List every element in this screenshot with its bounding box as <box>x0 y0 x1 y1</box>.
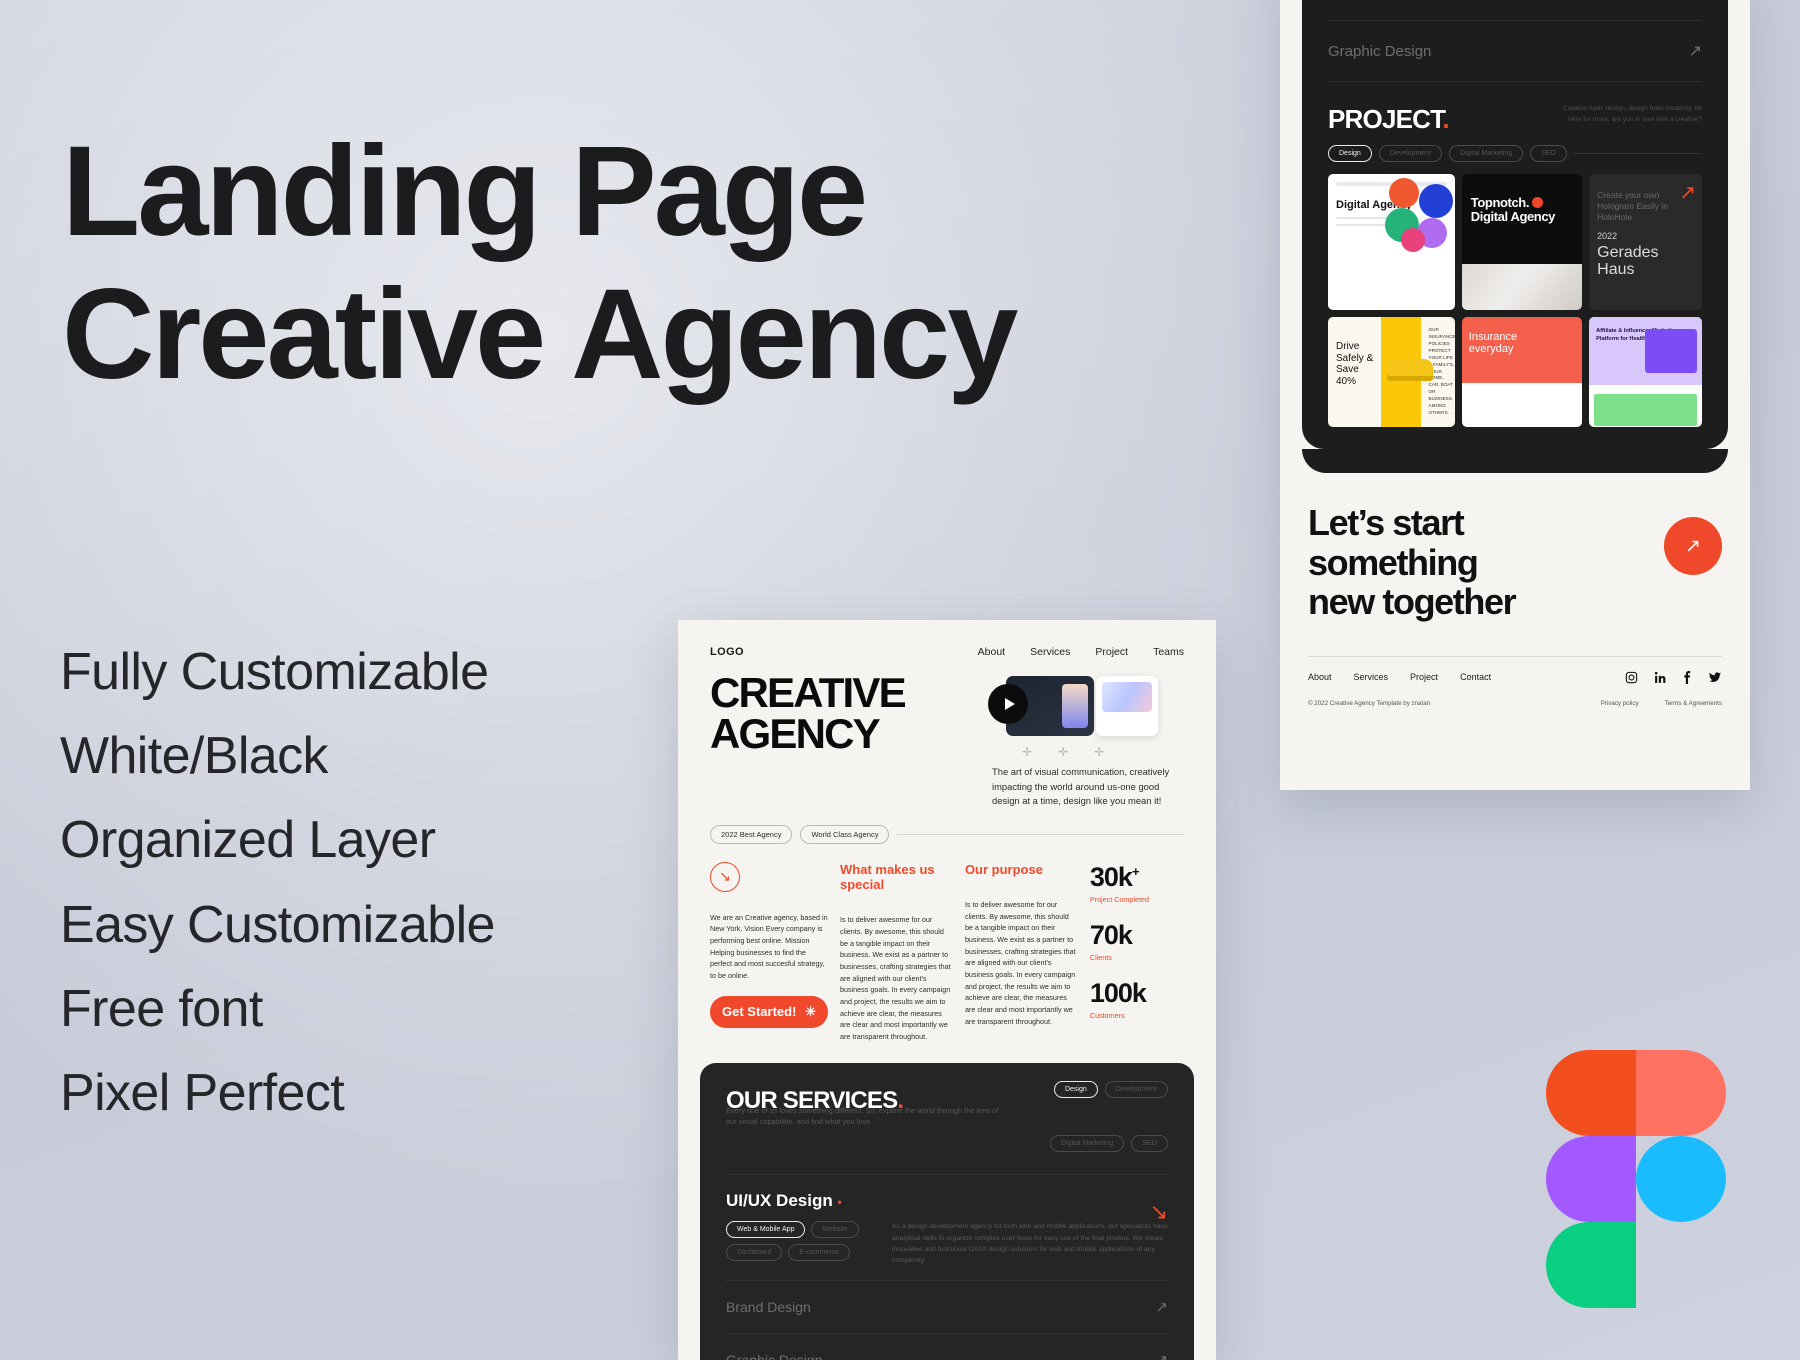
project-header: PROJECT. Creation fuels design, design f… <box>1328 82 1702 135</box>
thumb-photo <box>1462 264 1582 310</box>
filter-development[interactable]: Development <box>1379 145 1442 162</box>
service-row-label: Graphic Design <box>726 1352 823 1360</box>
stat-label: Customers <box>1090 1011 1184 1020</box>
right-landing-page-mockup: Brand Design ↗ Graphic Design ↗ PROJECT.… <box>1280 0 1750 790</box>
footer-social-icons <box>1625 671 1722 684</box>
service-row-graphic-design[interactable]: Graphic Design ↗ <box>1328 21 1702 82</box>
footer-bottom-row: © 2022 Creative Agency Template by znata… <box>1308 700 1722 707</box>
thumb-screenshot <box>1645 329 1697 373</box>
arrow-up-right-icon: ↗ <box>1685 535 1701 558</box>
center-landing-page-mockup: LOGO About Services Project Teams CREATI… <box>678 620 1216 1360</box>
figma-shape-orange <box>1546 1050 1636 1136</box>
device-bezel-bottom <box>1302 449 1728 473</box>
stat-number: 100k <box>1090 978 1184 1009</box>
footer-links: About Services Project Contact <box>1308 672 1491 682</box>
facebook-icon[interactable] <box>1683 671 1692 684</box>
service-active-title: UI/UX Design • <box>726 1191 1168 1211</box>
footer-link-project[interactable]: Project <box>1410 672 1438 682</box>
hero-badges: 2022 Best Agency World Class Agency <box>678 809 1216 844</box>
sparkle-icon: ✳ <box>805 1005 816 1019</box>
feature-item: Easy Customizable <box>60 883 495 967</box>
project-card-title: Drive Safely & Save 40% <box>1336 341 1373 387</box>
purpose-title: Our purpose <box>965 862 1078 877</box>
privacy-policy-link[interactable]: Privacy policy <box>1601 700 1639 707</box>
poster-headline: Landing Page Creative Agency <box>62 120 1102 407</box>
project-card-digital-agency[interactable]: Digital Agency <box>1328 174 1455 310</box>
purpose-body: Is to deliver awesome for our clients. B… <box>965 899 1078 1027</box>
terms-link[interactable]: Terms & Agreements <box>1665 700 1722 707</box>
filter-design[interactable]: Design <box>1328 145 1372 162</box>
twitter-icon[interactable] <box>1708 671 1722 684</box>
stat-item: 100k Customers <box>1090 978 1184 1020</box>
thumb-image <box>1594 394 1697 426</box>
project-card-holohole[interactable]: ↗ Create your own Hologram Easily in Hol… <box>1589 174 1702 310</box>
project-card-title: Topnotch. Digital Agency <box>1462 174 1582 224</box>
service-row-graphic-design[interactable]: Graphic Design ↗ <box>726 1333 1168 1360</box>
figma-logo <box>1546 1050 1726 1308</box>
stat-number: 30k+ <box>1090 862 1184 893</box>
linkedin-icon[interactable] <box>1654 671 1667 684</box>
footer: About Services Project Contact © 2022 Cr… <box>1308 656 1722 707</box>
project-dark-section: Brand Design ↗ Graphic Design ↗ PROJECT.… <box>1302 0 1728 449</box>
cta-heading: Let’s start something new together <box>1308 503 1515 622</box>
stat-item: 70k Clients <box>1090 920 1184 962</box>
nav-item-teams[interactable]: Teams <box>1153 646 1184 658</box>
get-started-button[interactable]: Get Started! ✳ <box>710 996 828 1028</box>
hero-paragraph: The art of visual communication, creativ… <box>992 765 1184 809</box>
service-description: As a design development agency for both … <box>892 1221 1168 1266</box>
thumb-lower <box>1589 385 1702 427</box>
footer-link-contact[interactable]: Contact <box>1460 672 1491 682</box>
arrow-up-right-icon[interactable]: ↗ <box>1679 180 1696 205</box>
project-card-title: Insuranceeveryday <box>1462 317 1582 355</box>
footer-link-about[interactable]: About <box>1308 672 1332 682</box>
project-card-insurance[interactable]: Insuranceeveryday <box>1462 317 1582 427</box>
avatar-blob-cluster <box>1383 178 1455 256</box>
project-title: PROJECT. <box>1328 104 1449 135</box>
sparkle-row: ✛✛✛ <box>1022 745 1184 759</box>
nav-item-services[interactable]: Services <box>1030 646 1070 658</box>
feature-item: Free font <box>60 967 495 1051</box>
service-row-label: Graphic Design <box>1328 43 1431 60</box>
filter-development[interactable]: Development <box>1105 1081 1168 1098</box>
feature-item: Fully Customizable <box>60 630 495 714</box>
thumb-left: Drive Safely & Save 40% <box>1328 317 1381 427</box>
hero-media-and-copy: ✛✛✛ The art of visual communication, cre… <box>992 672 1184 809</box>
filter-seo[interactable]: SEO <box>1530 145 1567 162</box>
filter-design[interactable]: Design <box>1054 1081 1098 1098</box>
intro-paragraph: We are an Creative agency, based in New … <box>710 912 828 982</box>
column-intro: ↘ We are an Creative agency, based in Ne… <box>710 862 828 1043</box>
play-button-icon[interactable] <box>988 684 1028 724</box>
feature-item: Pixel Perfect <box>60 1051 495 1135</box>
service-row-brand-design[interactable]: Brand Design ↗ <box>1328 0 1702 21</box>
value-columns: ↘ We are an Creative agency, based in Ne… <box>678 844 1216 1043</box>
service-tag-website[interactable]: Website <box>811 1221 858 1238</box>
hero-heading: CREATIVE AGENCY <box>710 672 978 809</box>
arrow-up-right-icon: ↗ <box>1155 1298 1168 1316</box>
stat-label: Clients <box>1090 953 1184 962</box>
feature-list: Fully Customizable White/Black Organized… <box>60 630 495 1135</box>
project-card-year: 2022 <box>1589 223 1702 241</box>
filter-seo[interactable]: SEO <box>1131 1135 1168 1152</box>
hero-section: CREATIVE AGENCY ✛✛✛ The art of visual co… <box>678 658 1216 809</box>
project-card-drive-safely[interactable]: Drive Safely & Save 40% OUR INSURANCE PO… <box>1328 317 1455 427</box>
thumb-mid <box>1381 317 1420 427</box>
divider <box>897 834 1184 835</box>
special-body: Is to deliver awesome for our clients. B… <box>840 914 953 1042</box>
get-started-label: Get Started! <box>722 1005 796 1019</box>
arrow-up-right-icon: ↗ <box>1155 1351 1168 1360</box>
filter-digital-marketing[interactable]: Digital Marketing <box>1449 145 1523 162</box>
special-title: What makes us special <box>840 862 953 893</box>
service-tag-list: Web & Mobile App Website Dashboard E-com… <box>726 1221 876 1261</box>
service-row-brand-design[interactable]: Brand Design ↗ <box>726 1280 1168 1333</box>
service-tag-dashboard[interactable]: Dashboard <box>726 1244 782 1261</box>
service-detail: Web & Mobile App Website Dashboard E-com… <box>726 1221 1168 1266</box>
stat-label: Project Completed <box>1090 895 1184 904</box>
service-row-label: Brand Design <box>726 1299 811 1315</box>
footer-top-row: About Services Project Contact <box>1308 671 1722 684</box>
services-section: OUR SERVICES. Design Development Every o… <box>700 1063 1194 1360</box>
get-in-touch-stamp-button[interactable]: ↗ <box>1664 517 1722 575</box>
cta-section: Let’s start something new together ↗ <box>1280 473 1750 622</box>
nav-item-project[interactable]: Project <box>1095 646 1128 658</box>
project-card-title: GeradesHaus <box>1589 241 1702 279</box>
project-filter-row: Design Development Digital Marketing SEO <box>1328 145 1702 162</box>
headline-line-2: Creative Agency <box>62 263 1102 406</box>
project-note: Creation fuels design, design fuels crea… <box>1552 104 1702 125</box>
hero-thumbnail-light <box>1096 676 1158 736</box>
badge-world-class[interactable]: World Class Agency <box>800 825 889 844</box>
filter-digital-marketing[interactable]: Digital Marketing <box>1050 1135 1124 1152</box>
figma-shape-green <box>1546 1222 1636 1308</box>
arrow-down-right-icon[interactable]: ↘ <box>710 862 740 892</box>
column-special: What makes us special Is to deliver awes… <box>840 862 953 1043</box>
footer-link-services[interactable]: Services <box>1354 672 1389 682</box>
arrow-up-right-icon: ↗ <box>1689 41 1702 61</box>
project-card-topnotch[interactable]: Topnotch. Digital Agency <box>1462 174 1582 310</box>
nav-item-about[interactable]: About <box>978 646 1005 658</box>
stat-number: 70k <box>1090 920 1184 951</box>
badge-best-agency[interactable]: 2022 Best Agency <box>710 825 792 844</box>
column-stats: 30k+ Project Completed 70k Clients 100k … <box>1090 862 1184 1043</box>
thumb-upper: Affiliate & Influencer Marketing Platfor… <box>1589 317 1702 385</box>
feature-item: White/Black <box>60 714 495 798</box>
instagram-icon[interactable] <box>1625 671 1638 684</box>
hero-thumbnail-strip <box>992 676 1184 738</box>
services-subtitle: Every one of us loves something differen… <box>726 1105 1000 1129</box>
hero-title-line-1: CREATIVE <box>710 672 978 713</box>
headline-line-1: Landing Page <box>62 120 1102 263</box>
divider <box>1574 153 1702 154</box>
mockup-navbar: LOGO About Services Project Teams <box>678 620 1216 658</box>
site-logo[interactable]: LOGO <box>710 646 744 658</box>
figma-shape-blue <box>1636 1136 1726 1222</box>
figma-shape-purple <box>1546 1136 1636 1222</box>
services-filter-row-2: Digital Marketing SEO <box>726 1135 1168 1152</box>
divider <box>726 1174 1168 1175</box>
hero-title-line-2: AGENCY <box>710 713 978 754</box>
project-grid: Digital Agency Topnotch. Digital Agency <box>1328 174 1702 427</box>
accent-dot-icon <box>1532 197 1543 208</box>
column-purpose: Our purpose Is to deliver awesome for ou… <box>965 862 1078 1043</box>
arrow-down-right-icon[interactable]: ↘ <box>1150 1199 1168 1225</box>
copyright-text: © 2022 Creative Agency Template by znata… <box>1308 700 1430 707</box>
footer-legal-links: Privacy policy Terms & Agreements <box>1601 700 1722 707</box>
figma-shape-salmon <box>1636 1050 1726 1136</box>
navbar-links: About Services Project Teams <box>978 646 1184 658</box>
project-card-affiliate[interactable]: Affiliate & Influencer Marketing Platfor… <box>1589 317 1702 427</box>
service-tag-web-mobile[interactable]: Web & Mobile App <box>726 1221 805 1238</box>
thumb-panel <box>1462 383 1582 427</box>
car-illustration <box>1387 359 1433 381</box>
feature-item: Organized Layer <box>60 798 495 882</box>
stat-item: 30k+ Project Completed <box>1090 862 1184 904</box>
service-tag-ecommerce[interactable]: E-commerce <box>788 1244 850 1261</box>
